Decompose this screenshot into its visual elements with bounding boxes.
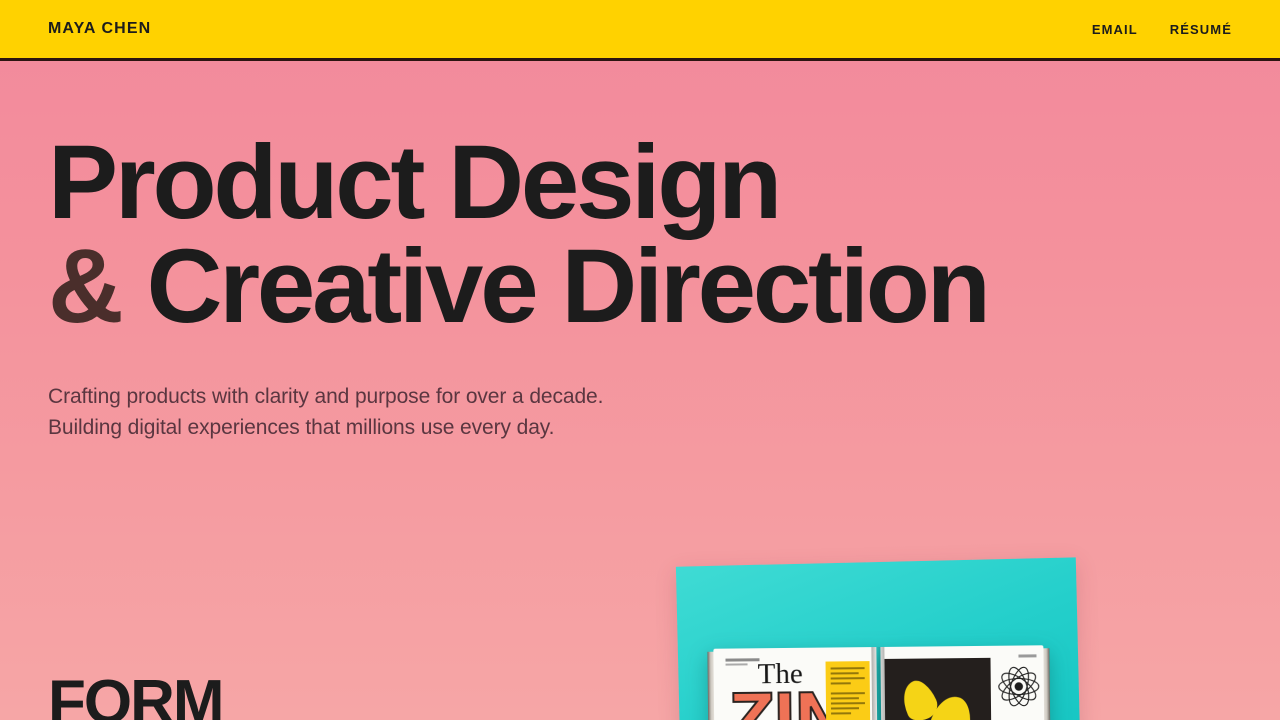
sidebar-text-line <box>831 667 865 669</box>
atom-diagram-icon <box>997 663 1041 709</box>
ampersand-glyph: & <box>48 228 121 345</box>
portfolio-landing-page: MAYA CHEN EMAIL RÉSUMÉ Product Design & … <box>0 0 1280 720</box>
left-page-running-head <box>725 658 759 661</box>
page-title: Product Design & Creative Direction <box>48 133 1280 337</box>
right-page-folio <box>1018 654 1036 657</box>
yellow-sidebar-column <box>826 661 871 720</box>
dark-illustration-panel <box>884 658 991 720</box>
hero-section: Product Design & Creative Direction Craf… <box>0 61 1280 444</box>
hero-subtitle-line-2: Building digital experiences that millio… <box>48 412 1280 444</box>
headline-line-2-text: Creative Direction <box>121 228 988 345</box>
headline-line-1: Product Design <box>48 124 779 241</box>
sidebar-text-line <box>831 702 865 704</box>
site-header: MAYA CHEN EMAIL RÉSUMÉ <box>0 0 1280 61</box>
magazine-spine <box>871 647 885 720</box>
nav-link-email[interactable]: EMAIL <box>1092 22 1138 37</box>
section-heading-form: FORM <box>48 672 223 720</box>
left-page-subhead-rule <box>726 663 748 665</box>
hero-subtitle-line-1: Crafting products with clarity and purpo… <box>48 381 1280 413</box>
sidebar-text-line <box>831 672 859 674</box>
nav-link-resume[interactable]: RÉSUMÉ <box>1170 22 1232 37</box>
hero-subtitle: Crafting products with clarity and purpo… <box>48 381 1280 445</box>
magazine-right-page <box>880 645 1044 720</box>
magazine-left-page: The ZIN <box>713 647 877 720</box>
sidebar-text-line <box>831 692 865 694</box>
sidebar-text-line <box>831 707 859 709</box>
sidebar-text-line <box>831 682 851 684</box>
open-magazine-spread: The ZIN <box>713 645 1044 720</box>
headline-line-2: & Creative Direction <box>48 237 1280 337</box>
brand-wordmark[interactable]: MAYA CHEN <box>48 20 151 38</box>
primary-nav: EMAIL RÉSUMÉ <box>1092 22 1232 37</box>
sidebar-text-line <box>831 677 865 679</box>
sidebar-text-line <box>831 697 859 699</box>
sidebar-text-line <box>831 712 851 714</box>
hero-artwork: The ZIN <box>672 552 1092 720</box>
